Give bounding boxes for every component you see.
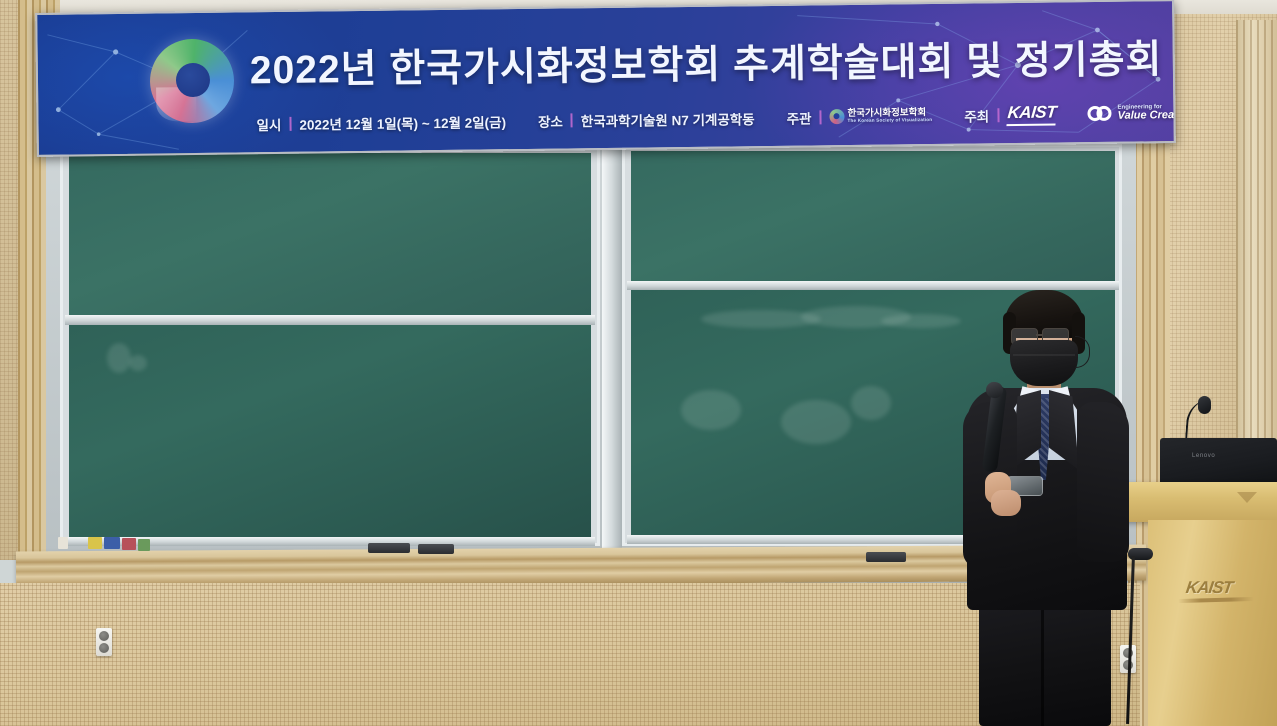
divider-icon	[289, 116, 291, 130]
lectern-body	[1148, 520, 1277, 726]
chalkboard-rail-mid-left	[65, 315, 595, 325]
evc-rings-icon	[1087, 106, 1113, 121]
chalkboard-panel-upper-right	[631, 151, 1115, 281]
evc-logo: Engineering for Value Creation	[1087, 103, 1175, 122]
conference-banner: 2022년 한국가시화정보학회 추계학술대회 및 정기총회 일시 2022년 1…	[35, 0, 1176, 157]
board-eraser-1	[368, 543, 410, 553]
place-label: 장소	[538, 110, 563, 130]
organizer-label: 주최	[964, 105, 989, 125]
board-eraser-3	[866, 552, 906, 562]
chalkboard-panel-lower-left	[69, 325, 591, 537]
place-value: 한국과학기술원 N7 기계공학동	[581, 108, 755, 130]
presenter-trousers	[979, 602, 1111, 726]
gooseneck-mic-head	[1198, 396, 1211, 414]
lecture-hall-photo: Lenovo KAIST	[0, 0, 1277, 726]
evc-line2: Value Creation	[1118, 110, 1176, 122]
divider-icon	[819, 110, 821, 124]
face-mask	[1010, 340, 1078, 386]
chalk-box-red	[122, 538, 136, 550]
chalkboard-left-unit	[60, 144, 600, 546]
glasses-bridge	[1036, 334, 1042, 336]
date-value: 2022년 12월 1일(목) ~ 12월 2일(금)	[299, 111, 506, 134]
ksv-ring-icon	[829, 109, 844, 124]
date-label: 일시	[256, 113, 281, 133]
trouser-seam	[1041, 610, 1044, 726]
chalk-box-white	[58, 537, 68, 549]
kaist-wordmark: KAIST	[1006, 102, 1057, 126]
lectern-top	[1124, 482, 1277, 522]
host-label: 주관	[787, 107, 812, 127]
face-mask-ear-strap	[1075, 336, 1090, 368]
laptop-brand-label: Lenovo	[1192, 453, 1215, 459]
face-mask-fold	[1013, 354, 1075, 356]
ksv-org-logo: 한국가시화정보학회 The Korean Society of Visualiz…	[829, 108, 932, 124]
lectern-kaist-wordmark: KAIST	[1185, 578, 1234, 598]
chalk-box-yellow	[88, 537, 102, 549]
ksv-org-name-en: The Korean Society of Visualization	[848, 118, 933, 124]
banner-subline: 일시 2022년 12월 1일(목) ~ 12월 2일(금) 장소 한국과학기술…	[256, 101, 1175, 135]
chalkboard-rail-mid-right	[627, 281, 1119, 290]
presenter	[955, 290, 1140, 726]
banner-title: 2022년 한국가시화정보학회 추계학술대회 및 정기총회	[250, 28, 1163, 95]
divider-icon	[571, 113, 573, 127]
evc-logo-text: Engineering for Value Creation	[1117, 103, 1175, 122]
presenter-hand-left	[991, 490, 1021, 516]
chalk-box-blue	[104, 537, 120, 549]
divider-icon	[997, 108, 999, 122]
chalk-box-green	[138, 539, 150, 551]
chalkboard-panel-upper-left	[69, 153, 591, 315]
ksv-swirl-logo	[149, 39, 234, 124]
ksv-org-text: 한국가시화정보학회 The Korean Society of Visualiz…	[847, 108, 932, 124]
presenter-arm-right	[1077, 402, 1129, 562]
left-wall-acoustic-panel	[0, 0, 20, 560]
board-eraser-2	[418, 544, 454, 554]
power-outlet-left	[96, 628, 112, 656]
chalkboard-center-post	[602, 140, 622, 550]
